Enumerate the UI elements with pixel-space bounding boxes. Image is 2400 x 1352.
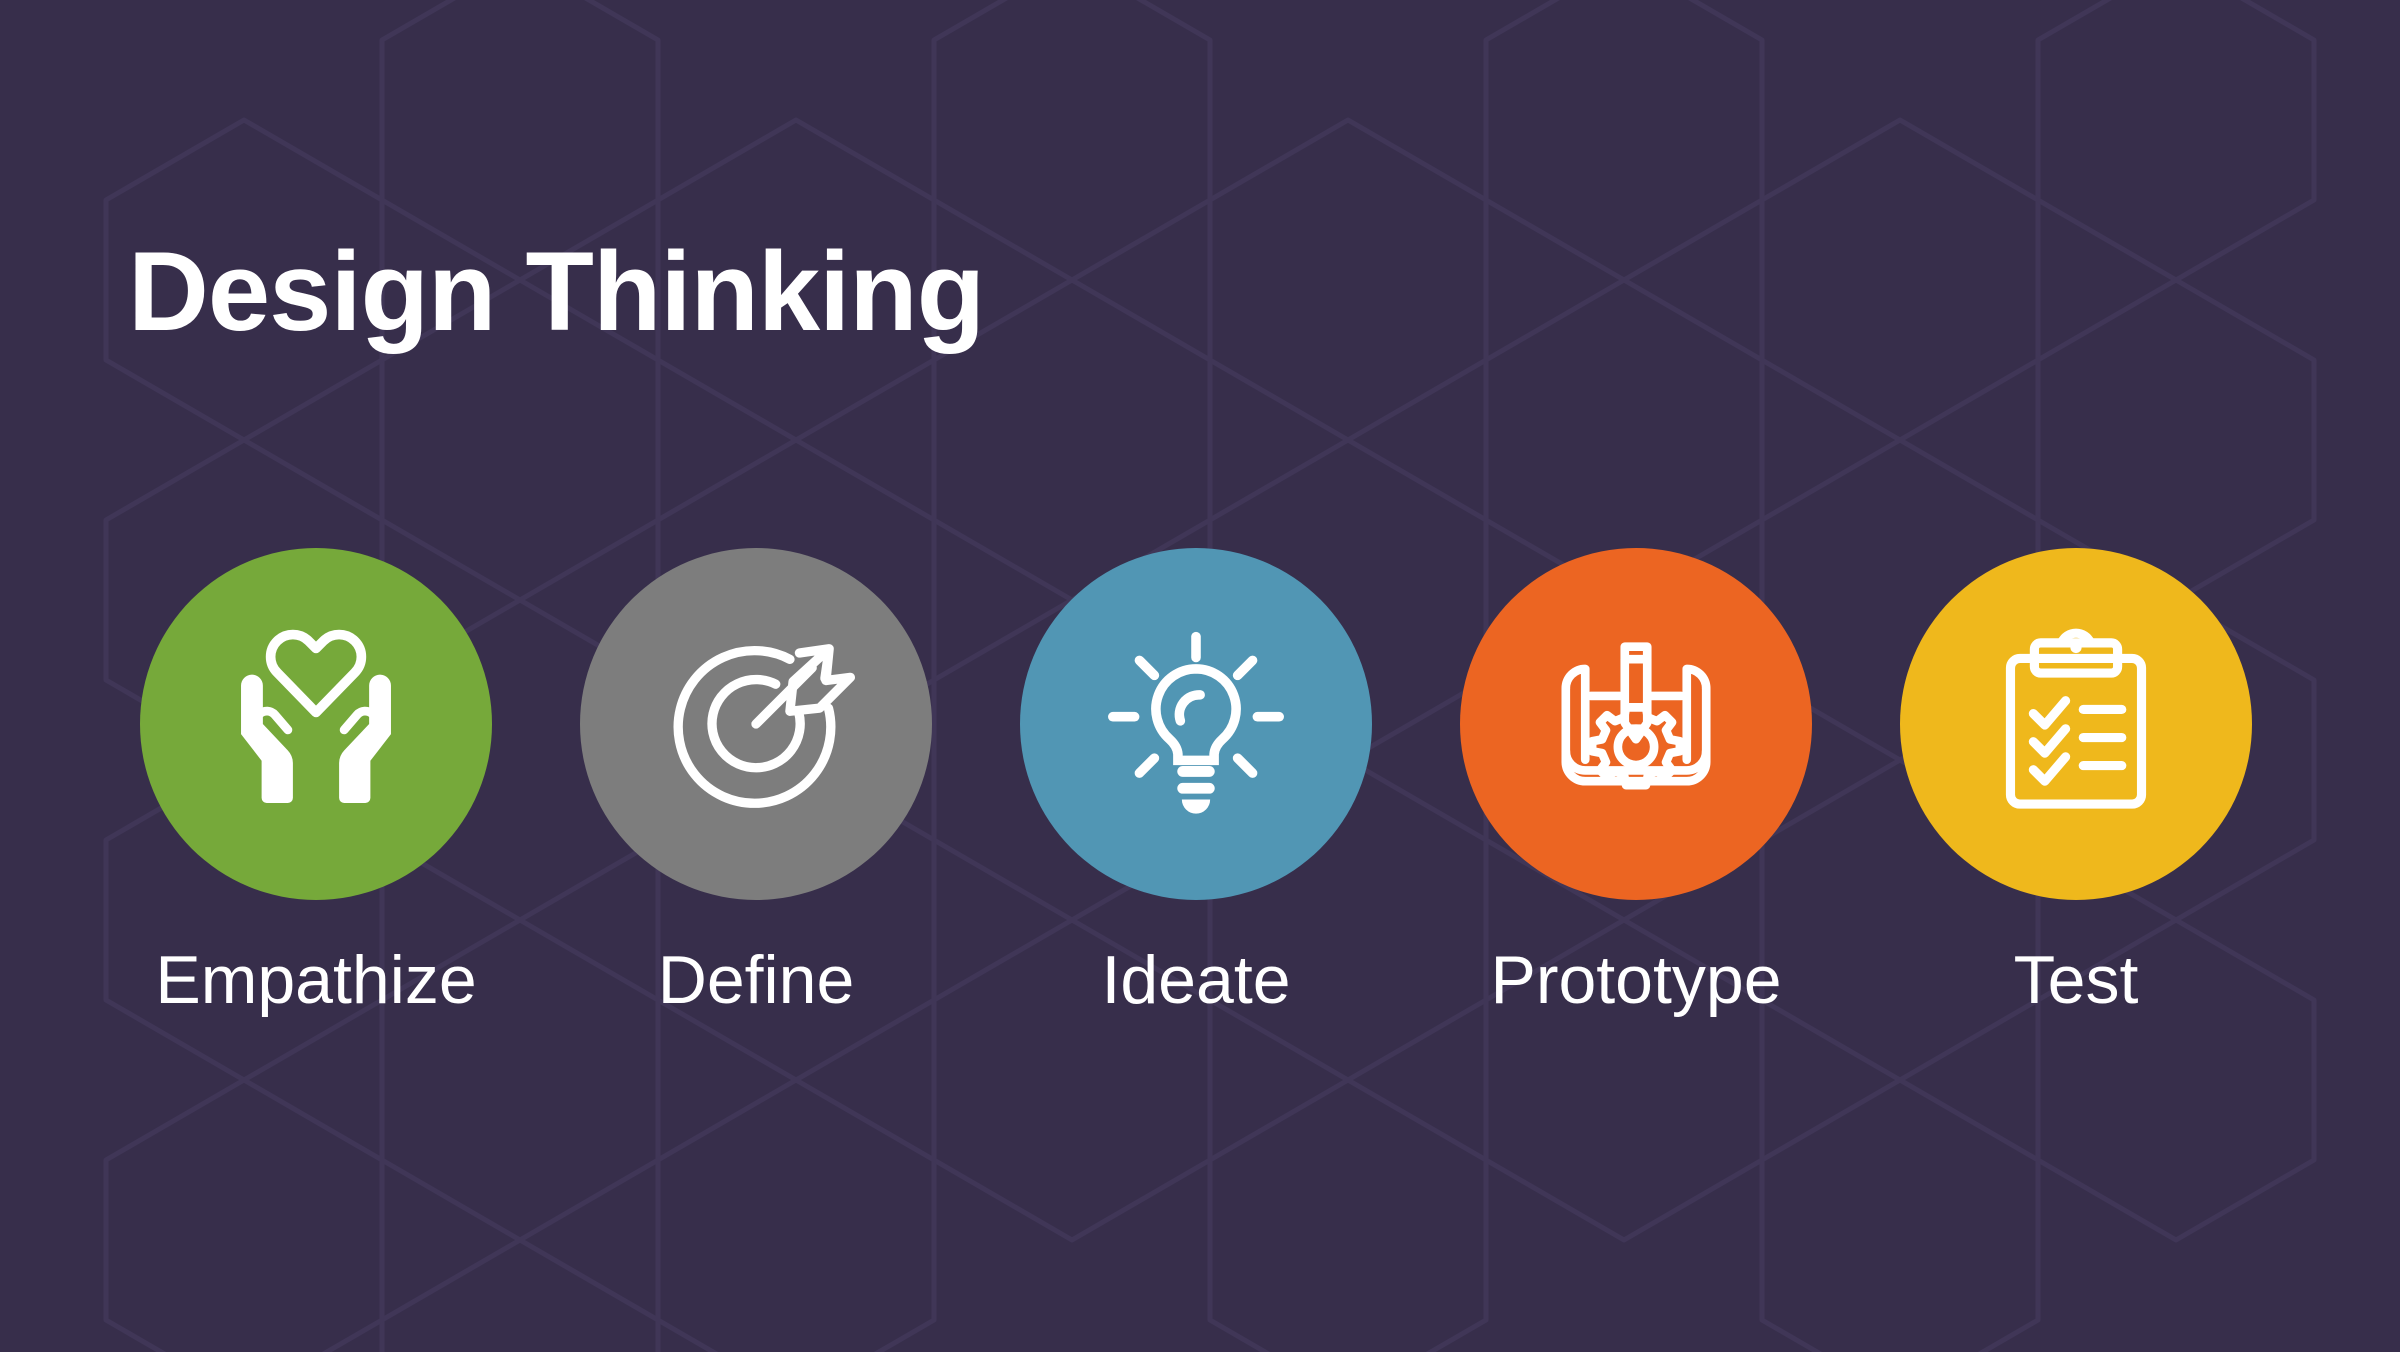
step-empathize[interactable]: Empathize [96, 548, 536, 1014]
step-empathize-label: Empathize [155, 946, 476, 1014]
light-bulb-icon [1092, 620, 1300, 828]
step-ideate-label: Ideate [1101, 946, 1290, 1014]
step-prototype-label: Prototype [1490, 946, 1781, 1014]
step-define-circle[interactable] [580, 548, 932, 900]
step-ideate-circle[interactable] [1020, 548, 1372, 900]
step-define-label: Define [658, 946, 855, 1014]
step-prototype[interactable]: Prototype [1416, 548, 1856, 1014]
target-arrow-icon [650, 618, 862, 830]
design-thinking-steps: Empathize Define [96, 548, 2304, 1014]
blueprint-pencil-gear-icon [1528, 616, 1744, 832]
step-empathize-circle[interactable] [140, 548, 492, 900]
step-ideate[interactable]: Ideate [976, 548, 1416, 1014]
hands-holding-heart-icon [211, 619, 421, 829]
step-test-label: Test [2014, 946, 2139, 1014]
step-prototype-circle[interactable] [1460, 548, 1812, 900]
step-test-circle[interactable] [1900, 548, 2252, 900]
page-title: Design Thinking [128, 236, 984, 348]
design-thinking-slide: Design Thinking Empathize [0, 0, 2400, 1352]
clipboard-checklist-icon [1972, 620, 2180, 828]
step-test[interactable]: Test [1856, 548, 2296, 1014]
step-define[interactable]: Define [536, 548, 976, 1014]
